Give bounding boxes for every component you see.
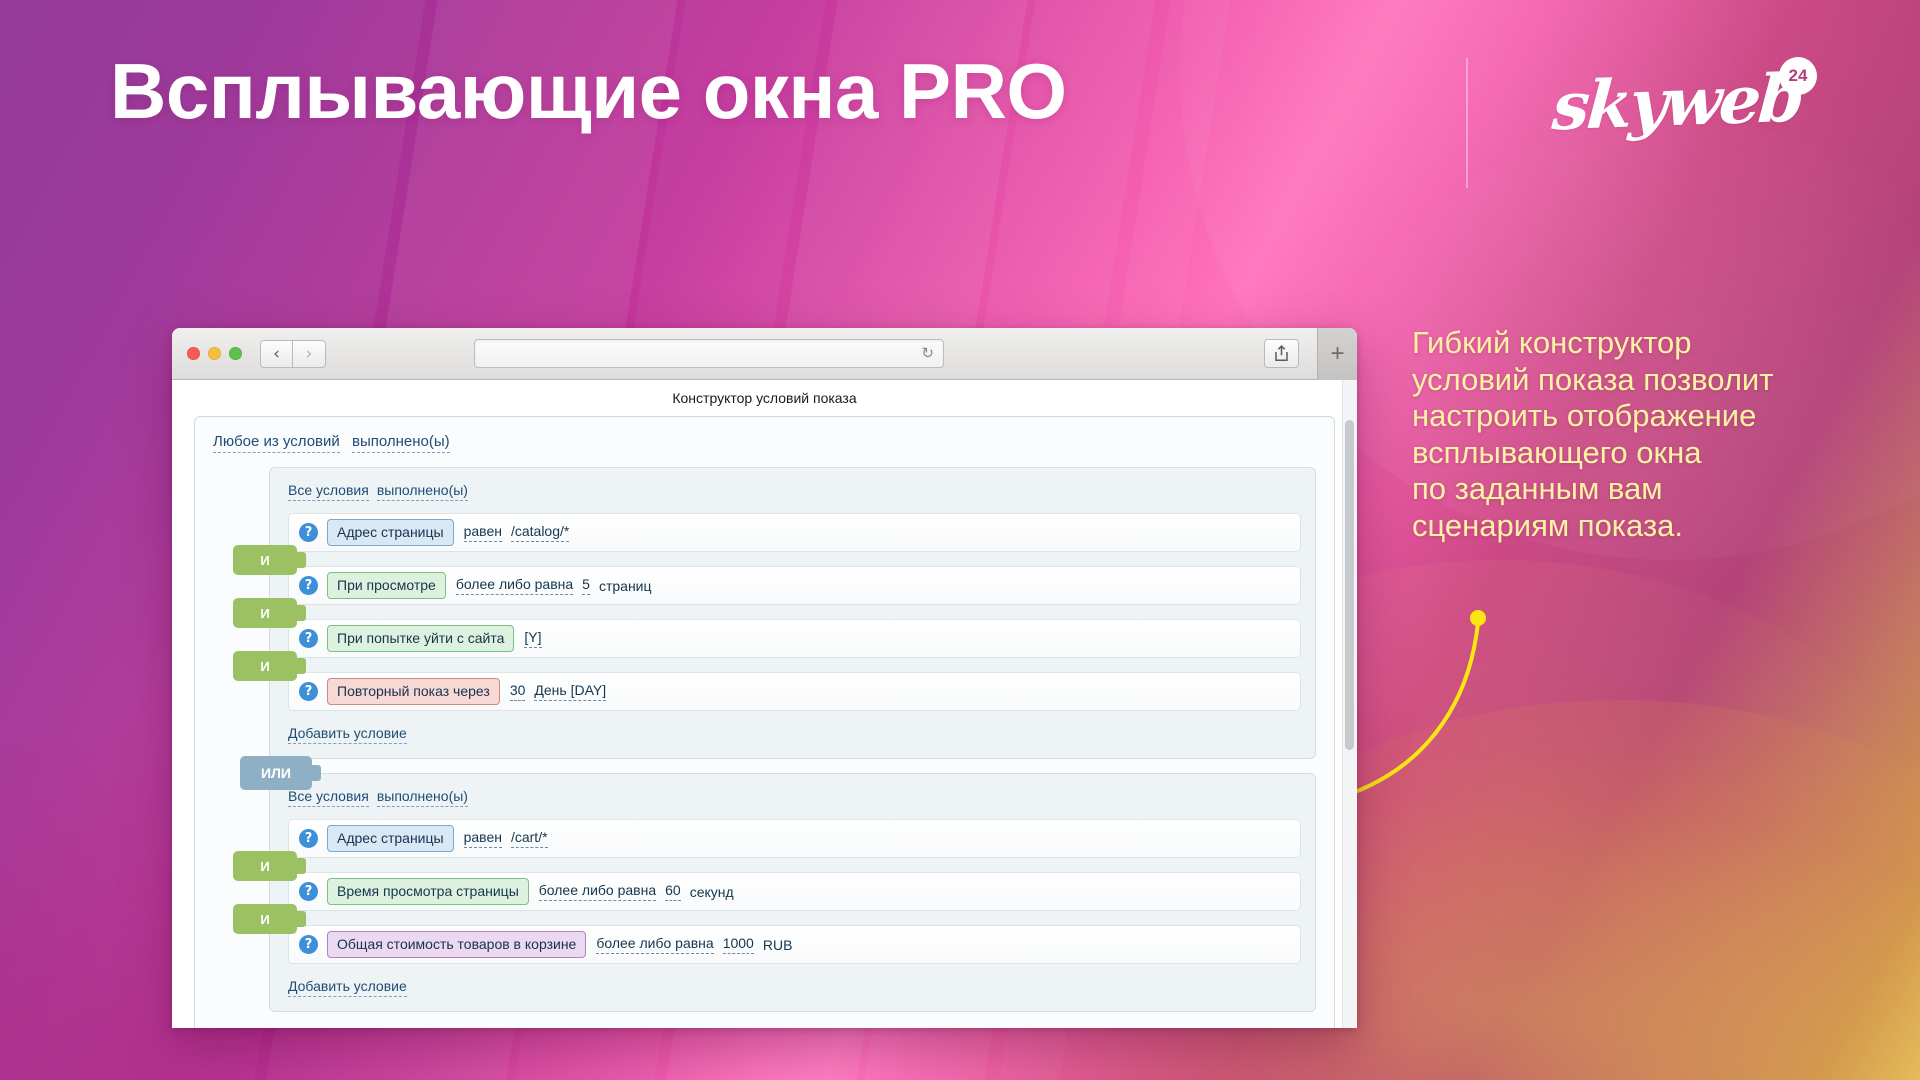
group-header: Все условиявыполнено(ы) bbox=[288, 788, 1301, 807]
condition-type-tag[interactable]: При просмотре bbox=[327, 572, 446, 598]
condition-type-tag[interactable]: Адрес страницы bbox=[327, 825, 454, 851]
group-quantifier-select[interactable]: Все условия bbox=[288, 788, 369, 807]
brand-wordmark: skyweb bbox=[1550, 59, 1804, 146]
condition-expression: 30День [DAY] bbox=[510, 682, 615, 701]
logo-divider bbox=[1466, 58, 1468, 188]
condition-value-select[interactable]: равен bbox=[464, 829, 502, 848]
scrollbar-thumb[interactable] bbox=[1345, 420, 1354, 750]
condition-unit-label: RUB bbox=[763, 937, 793, 953]
add-condition-link[interactable]: Добавить условие bbox=[288, 725, 1301, 744]
add-condition-label[interactable]: Добавить условие bbox=[288, 725, 407, 744]
condition-row: И?При попытке уйти с сайта[Y] bbox=[288, 619, 1301, 658]
condition-value-select[interactable]: более либо равна bbox=[456, 576, 573, 595]
close-window-button[interactable] bbox=[187, 347, 200, 360]
reload-icon[interactable]: ↻ bbox=[921, 346, 934, 361]
page-scrollbar[interactable] bbox=[1342, 380, 1357, 1028]
condition-unit-label: секунд bbox=[690, 884, 734, 900]
browser-titlebar: ‹ › ↻ + bbox=[172, 328, 1357, 380]
condition-row: ?Адрес страницыравен/catalog/* bbox=[288, 513, 1301, 552]
row-operator-chip[interactable]: И bbox=[233, 851, 297, 881]
root-header: Любое из условий выполнено(ы) bbox=[213, 433, 1316, 453]
condition-value-select[interactable]: более либо равна bbox=[539, 882, 656, 901]
condition-expression: более либо равна5страниц bbox=[456, 576, 661, 595]
group-state-select[interactable]: выполнено(ы) bbox=[377, 788, 468, 807]
row-operator-chip[interactable]: И bbox=[233, 545, 297, 575]
condition-row: И?Время просмотра страницыболее либо рав… bbox=[288, 872, 1301, 911]
new-tab-button[interactable]: + bbox=[1317, 328, 1357, 380]
condition-value-select[interactable]: 5 bbox=[582, 576, 590, 595]
condition-group: ИЛИВсе условиявыполнено(ы)?Адрес страниц… bbox=[269, 773, 1316, 1012]
help-icon[interactable]: ? bbox=[299, 629, 318, 648]
minimize-window-button[interactable] bbox=[208, 347, 221, 360]
share-button[interactable] bbox=[1264, 339, 1299, 368]
condition-row: ?Адрес страницыравен/cart/* bbox=[288, 819, 1301, 858]
condition-builder-root: Любое из условий выполнено(ы) Все услови… bbox=[194, 416, 1335, 1028]
browser-window: ‹ › ↻ + Конструктор условий показа Любое… bbox=[172, 328, 1357, 1028]
condition-type-tag[interactable]: Повторный показ через bbox=[327, 678, 500, 704]
zoom-window-button[interactable] bbox=[229, 347, 242, 360]
condition-group: Все условиявыполнено(ы)?Адрес страницыра… bbox=[269, 467, 1316, 759]
help-icon[interactable]: ? bbox=[299, 935, 318, 954]
document-title: Конструктор условий показа bbox=[172, 380, 1357, 412]
row-operator-chip[interactable]: И bbox=[233, 598, 297, 628]
condition-expression: равен/catalog/* bbox=[464, 523, 579, 542]
row-operator-chip[interactable]: И bbox=[233, 651, 297, 681]
root-quantifier-select[interactable]: Любое из условий bbox=[213, 433, 340, 453]
help-icon[interactable]: ? bbox=[299, 682, 318, 701]
group-quantifier-select[interactable]: Все условия bbox=[288, 482, 369, 501]
address-bar[interactable]: ↻ bbox=[474, 339, 944, 368]
condition-value-select[interactable]: равен bbox=[464, 523, 502, 542]
condition-unit-label: страниц bbox=[599, 578, 652, 594]
connector-dot-top bbox=[1470, 610, 1486, 626]
page-title: Всплывающие окна PRO bbox=[110, 52, 1067, 130]
window-controls[interactable] bbox=[187, 347, 242, 360]
brand-logo: skyweb 24 bbox=[1553, 55, 1813, 165]
help-icon[interactable]: ? bbox=[299, 523, 318, 542]
condition-groups: Все условиявыполнено(ы)?Адрес страницыра… bbox=[213, 467, 1316, 1012]
back-button[interactable]: ‹ bbox=[260, 340, 293, 368]
condition-value-select[interactable]: /catalog/* bbox=[511, 523, 569, 542]
condition-value-select[interactable]: более либо равна bbox=[596, 935, 713, 954]
condition-expression: [Y] bbox=[524, 629, 550, 648]
navigation-buttons[interactable]: ‹ › bbox=[260, 340, 326, 368]
condition-expression: равен/cart/* bbox=[464, 829, 557, 848]
forward-button[interactable]: › bbox=[293, 340, 326, 368]
condition-row: И?Общая стоимость товаров в корзинеболее… bbox=[288, 925, 1301, 964]
condition-value-select[interactable]: День [DAY] bbox=[534, 682, 606, 701]
condition-value-select[interactable]: 30 bbox=[510, 682, 526, 701]
condition-value-select[interactable]: 60 bbox=[665, 882, 681, 901]
brand-badge: 24 bbox=[1779, 57, 1817, 95]
condition-value-select[interactable]: [Y] bbox=[524, 629, 541, 648]
group-header: Все условиявыполнено(ы) bbox=[288, 482, 1301, 501]
slide-canvas: Всплывающие окна PRO skyweb 24 Гибкий ко… bbox=[0, 0, 1920, 1080]
side-description: Гибкий конструктор условий показа позвол… bbox=[1412, 325, 1872, 544]
condition-type-tag[interactable]: Адрес страницы bbox=[327, 519, 454, 545]
add-condition-link[interactable]: Добавить условие bbox=[288, 978, 1301, 997]
condition-value-select[interactable]: 1000 bbox=[723, 935, 754, 954]
help-icon[interactable]: ? bbox=[299, 576, 318, 595]
condition-type-tag[interactable]: Время просмотра страницы bbox=[327, 878, 529, 904]
condition-expression: более либо равна1000RUB bbox=[596, 935, 801, 954]
group-operator-chip[interactable]: ИЛИ bbox=[240, 756, 312, 790]
condition-type-tag[interactable]: При попытке уйти с сайта bbox=[327, 625, 514, 651]
share-icon bbox=[1274, 345, 1289, 362]
condition-value-select[interactable]: /cart/* bbox=[511, 829, 548, 848]
condition-type-tag[interactable]: Общая стоимость товаров в корзине bbox=[327, 931, 586, 957]
row-operator-chip[interactable]: И bbox=[233, 904, 297, 934]
condition-row: И?При просмотреболее либо равна5страниц bbox=[288, 566, 1301, 605]
group-state-select[interactable]: выполнено(ы) bbox=[377, 482, 468, 501]
help-icon[interactable]: ? bbox=[299, 829, 318, 848]
page-content: Конструктор условий показа Любое из усло… bbox=[172, 380, 1357, 1028]
condition-expression: более либо равна60секунд bbox=[539, 882, 743, 901]
root-state-select[interactable]: выполнено(ы) bbox=[352, 433, 450, 453]
condition-row: И?Повторный показ через30День [DAY] bbox=[288, 672, 1301, 711]
add-condition-label[interactable]: Добавить условие bbox=[288, 978, 407, 997]
help-icon[interactable]: ? bbox=[299, 882, 318, 901]
